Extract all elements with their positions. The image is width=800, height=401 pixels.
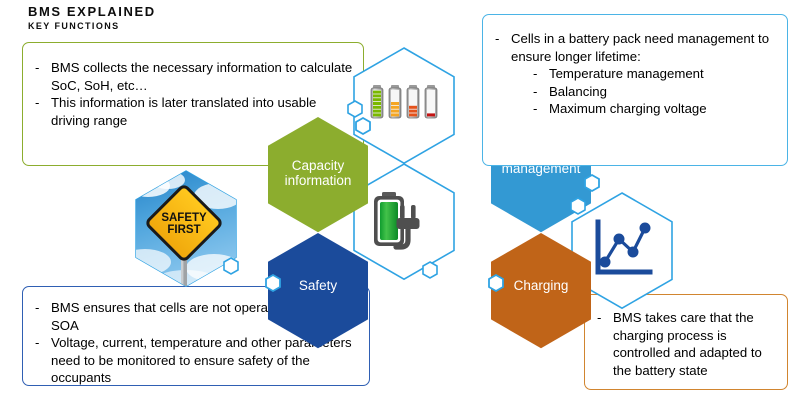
bullet-text: BMS takes care that the charging process… [613, 310, 762, 378]
list-item: - Maximum charging voltage [489, 100, 779, 118]
hexagon-safety-image[interactable]: SAFETY FIRST [119, 166, 249, 296]
title-block: BMS EXPLAINED KEY FUNCTIONS [28, 4, 156, 32]
bullet-dash: - [597, 309, 601, 327]
hexagon-charging[interactable]: Charging [491, 233, 591, 348]
safety-first-sign-image: SAFETY FIRST [119, 166, 249, 296]
cell-management-callout: - Cells in a battery pack need managemen… [482, 14, 788, 166]
list-item: - Balancing [489, 83, 779, 101]
line-chart-icon [598, 222, 650, 272]
bullet-dash: - [35, 334, 39, 352]
bullet-dash: - [533, 100, 537, 118]
bullet-dash: - [533, 65, 537, 83]
sign-line-1: SAFETY [161, 212, 207, 224]
battery-charging-plug-icon [374, 192, 420, 247]
hexagon-line-chart[interactable] [572, 193, 672, 308]
list-item: - BMS takes care that the charging proce… [591, 309, 779, 379]
bullet-text: Maximum charging voltage [549, 101, 707, 116]
capacity-information-callout: - BMS collects the necessary information… [22, 42, 364, 166]
list-item: - Cells in a battery pack need managemen… [489, 30, 779, 65]
safety-callout: - BMS ensures that cells are not operate… [22, 286, 370, 386]
safety-bullet-list: - BMS ensures that cells are not operate… [29, 299, 359, 387]
hexagon-capacity-label-line2: information [285, 173, 352, 188]
bullet-text: Temperature management [549, 66, 704, 81]
bullet-text: This information is later translated int… [51, 95, 316, 128]
connector-node-charging [489, 275, 503, 291]
bullet-dash: - [35, 299, 39, 317]
list-item: - Voltage, current, temperature and othe… [29, 334, 359, 387]
page-subtitle: KEY FUNCTIONS [28, 20, 156, 32]
connector-node-line-chart [571, 198, 585, 214]
bullet-dash: - [533, 83, 537, 101]
bullet-dash: - [35, 94, 39, 112]
charging-bullet-list: - BMS takes care that the charging proce… [591, 309, 779, 379]
bullet-text: BMS ensures that cells are not operated … [51, 300, 355, 333]
list-item: - BMS collects the necessary information… [29, 59, 353, 94]
charging-callout: - BMS takes care that the charging proce… [584, 294, 788, 390]
list-item: - This information is later translated i… [29, 94, 353, 129]
bullet-text: Balancing [549, 84, 607, 99]
sign-line-2: FIRST [167, 224, 200, 236]
hexagon-battery-levels[interactable] [354, 48, 454, 163]
infographic-canvas: BMS EXPLAINED KEY FUNCTIONS - BMS collec… [0, 0, 800, 401]
page-title: BMS EXPLAINED [28, 4, 156, 19]
list-item: - BMS ensures that cells are not operate… [29, 299, 359, 334]
bullet-dash: - [495, 30, 499, 48]
bullet-text: Cells in a battery pack need management … [511, 31, 769, 64]
connector-node-battery-plug [423, 262, 437, 278]
connector-node-safety-image [224, 258, 238, 274]
bullet-text: Voltage, current, temperature and other … [51, 335, 352, 385]
bullet-dash: - [35, 59, 39, 77]
cell-bullet-list: - Cells in a battery pack need managemen… [489, 30, 779, 118]
connector-node-cell [585, 175, 599, 191]
hexagon-charging-label: Charging [514, 278, 569, 293]
hexagon-battery-charging[interactable] [354, 164, 454, 279]
bullet-text: BMS collects the necessary information t… [51, 60, 352, 93]
list-item: - Temperature management [489, 65, 779, 83]
battery-levels-icon [371, 85, 437, 118]
capacity-bullet-list: - BMS collects the necessary information… [29, 59, 353, 129]
